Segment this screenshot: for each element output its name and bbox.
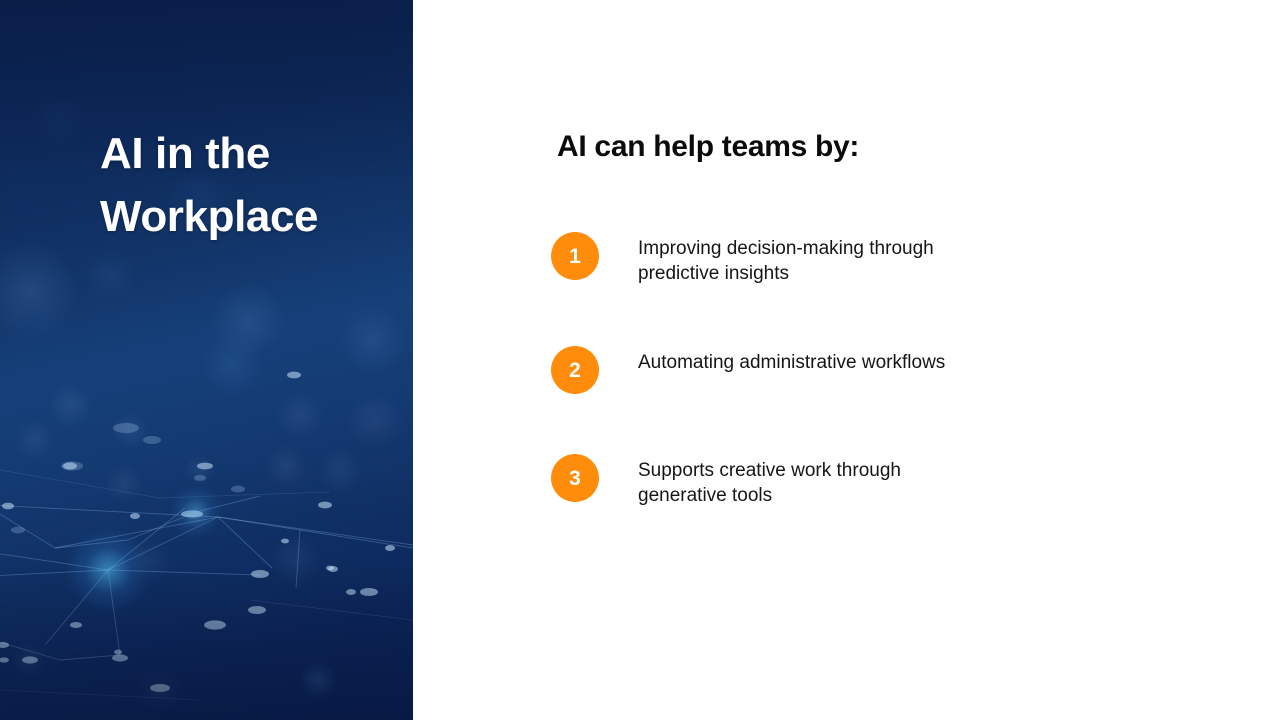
point-number-badge: 1 bbox=[551, 232, 599, 280]
background-vignette bbox=[0, 0, 413, 720]
content-heading: AI can help teams by: bbox=[557, 130, 859, 164]
point-number-badge: 2 bbox=[551, 346, 599, 394]
slide-title: AI in the Workplace bbox=[100, 122, 400, 248]
point-text: Improving decision-making through predic… bbox=[638, 236, 971, 286]
numbered-points-list: 1 Improving decision-making through pred… bbox=[551, 232, 971, 508]
slide: AI in the Workplace AI can help teams by… bbox=[0, 0, 1280, 720]
left-title-panel: AI in the Workplace bbox=[0, 0, 413, 720]
point-text: Automating administrative workflows bbox=[638, 350, 945, 375]
title-block: AI in the Workplace bbox=[100, 122, 400, 248]
point-text: Supports creative work through generativ… bbox=[638, 458, 971, 508]
list-item: 3 Supports creative work through generat… bbox=[551, 454, 971, 508]
list-item: 2 Automating administrative workflows bbox=[551, 346, 971, 394]
point-number-badge: 3 bbox=[551, 454, 599, 502]
right-content-panel: AI can help teams by: 1 Improving decisi… bbox=[413, 0, 1280, 720]
list-item: 1 Improving decision-making through pred… bbox=[551, 232, 971, 286]
